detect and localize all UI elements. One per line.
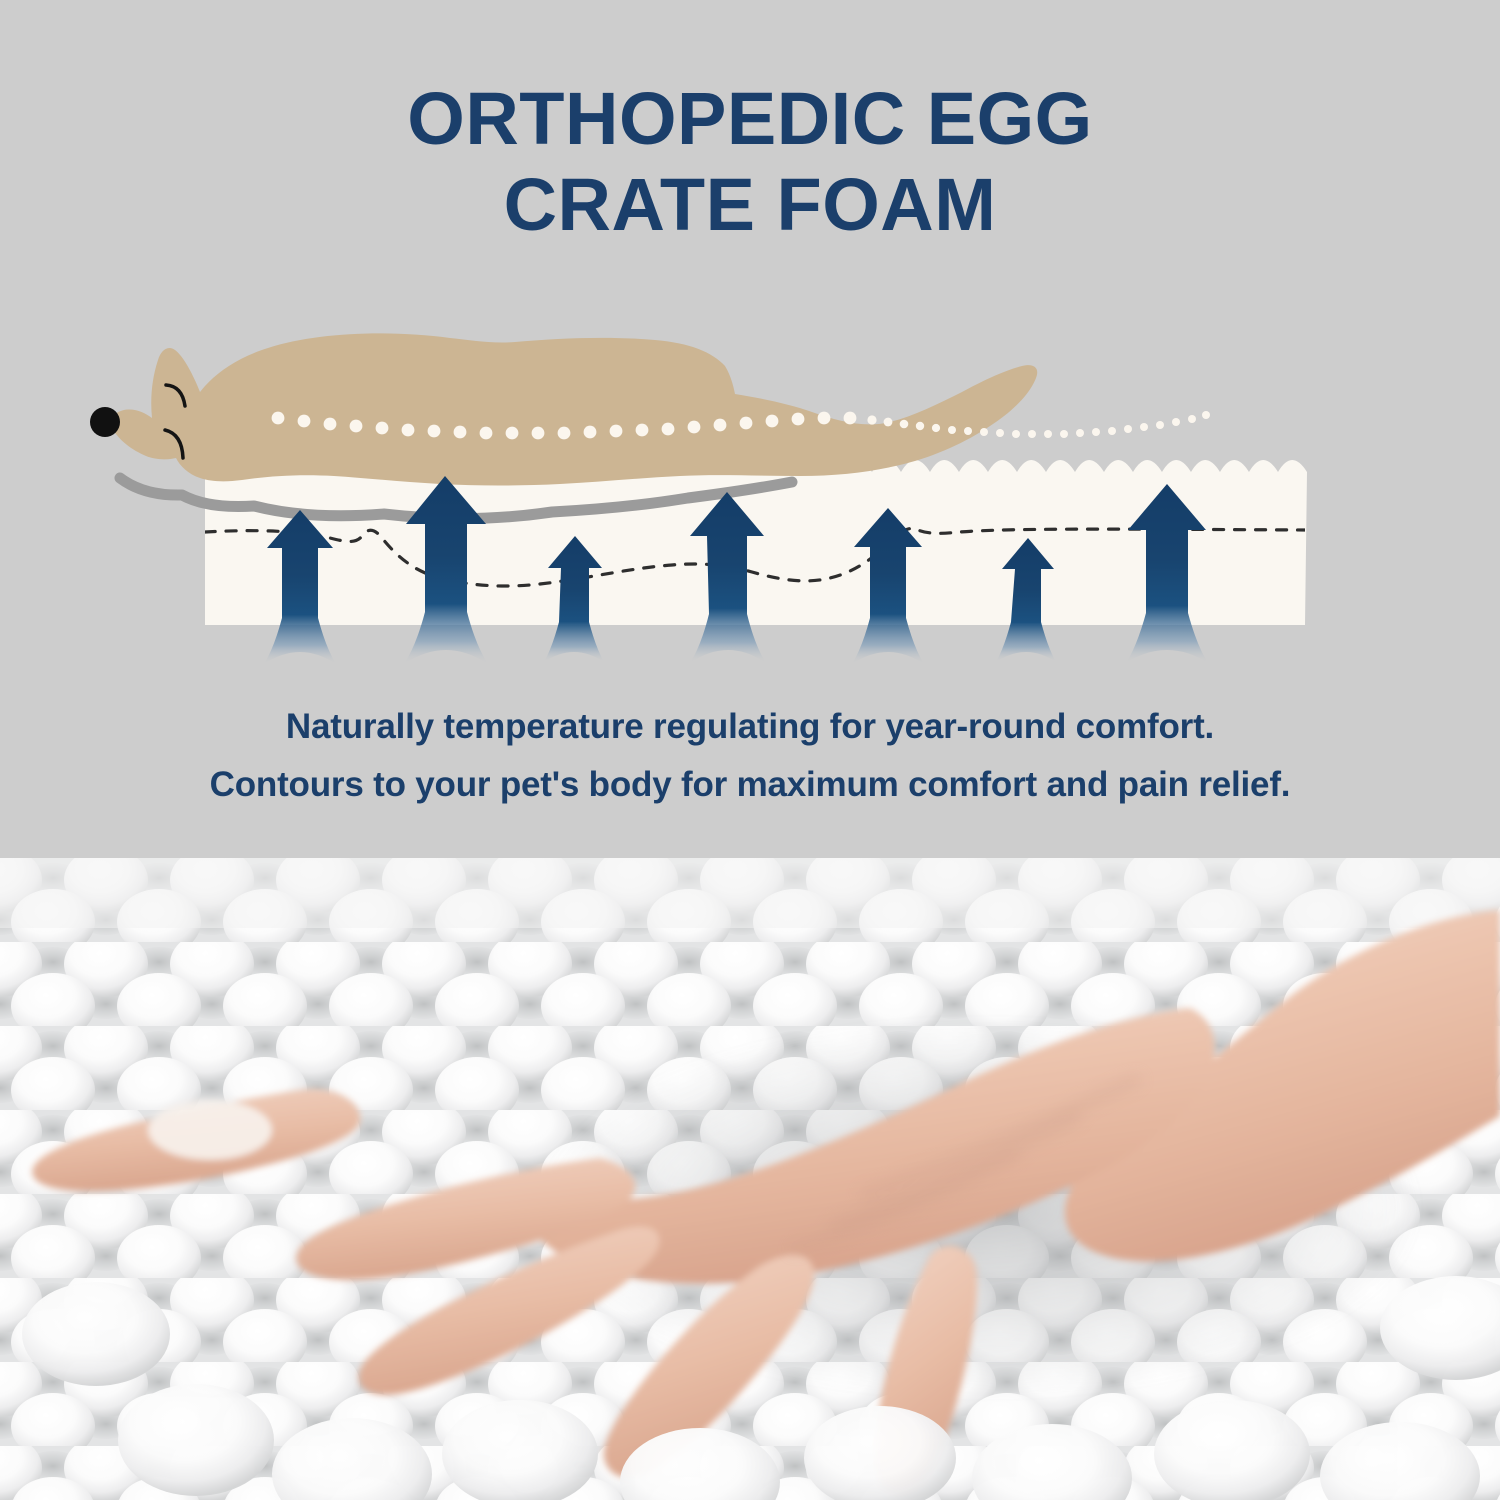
fingernail [148,1100,272,1160]
illustration-panel: ORTHOPEDIC EGG CRATE FOAM [0,0,1500,858]
headline-line-1: ORTHOPEDIC EGG [0,76,1500,162]
product-feature-graphic: ORTHOPEDIC EGG CRATE FOAM [0,0,1500,1500]
dog-body [107,333,1037,485]
foam-photo-panel [0,858,1500,1500]
page-title: ORTHOPEDIC EGG CRATE FOAM [0,76,1500,248]
dog-nose [90,407,120,437]
dog-on-foam-diagram [0,300,1500,690]
caption-line-1: Naturally temperature regulating for yea… [0,698,1500,756]
headline-line-2: CRATE FOAM [0,162,1500,248]
hand-pressing-foam [0,858,1500,1500]
caption-line-2: Contours to your pet's body for maximum … [0,756,1500,814]
feature-caption: Naturally temperature regulating for yea… [0,698,1500,814]
